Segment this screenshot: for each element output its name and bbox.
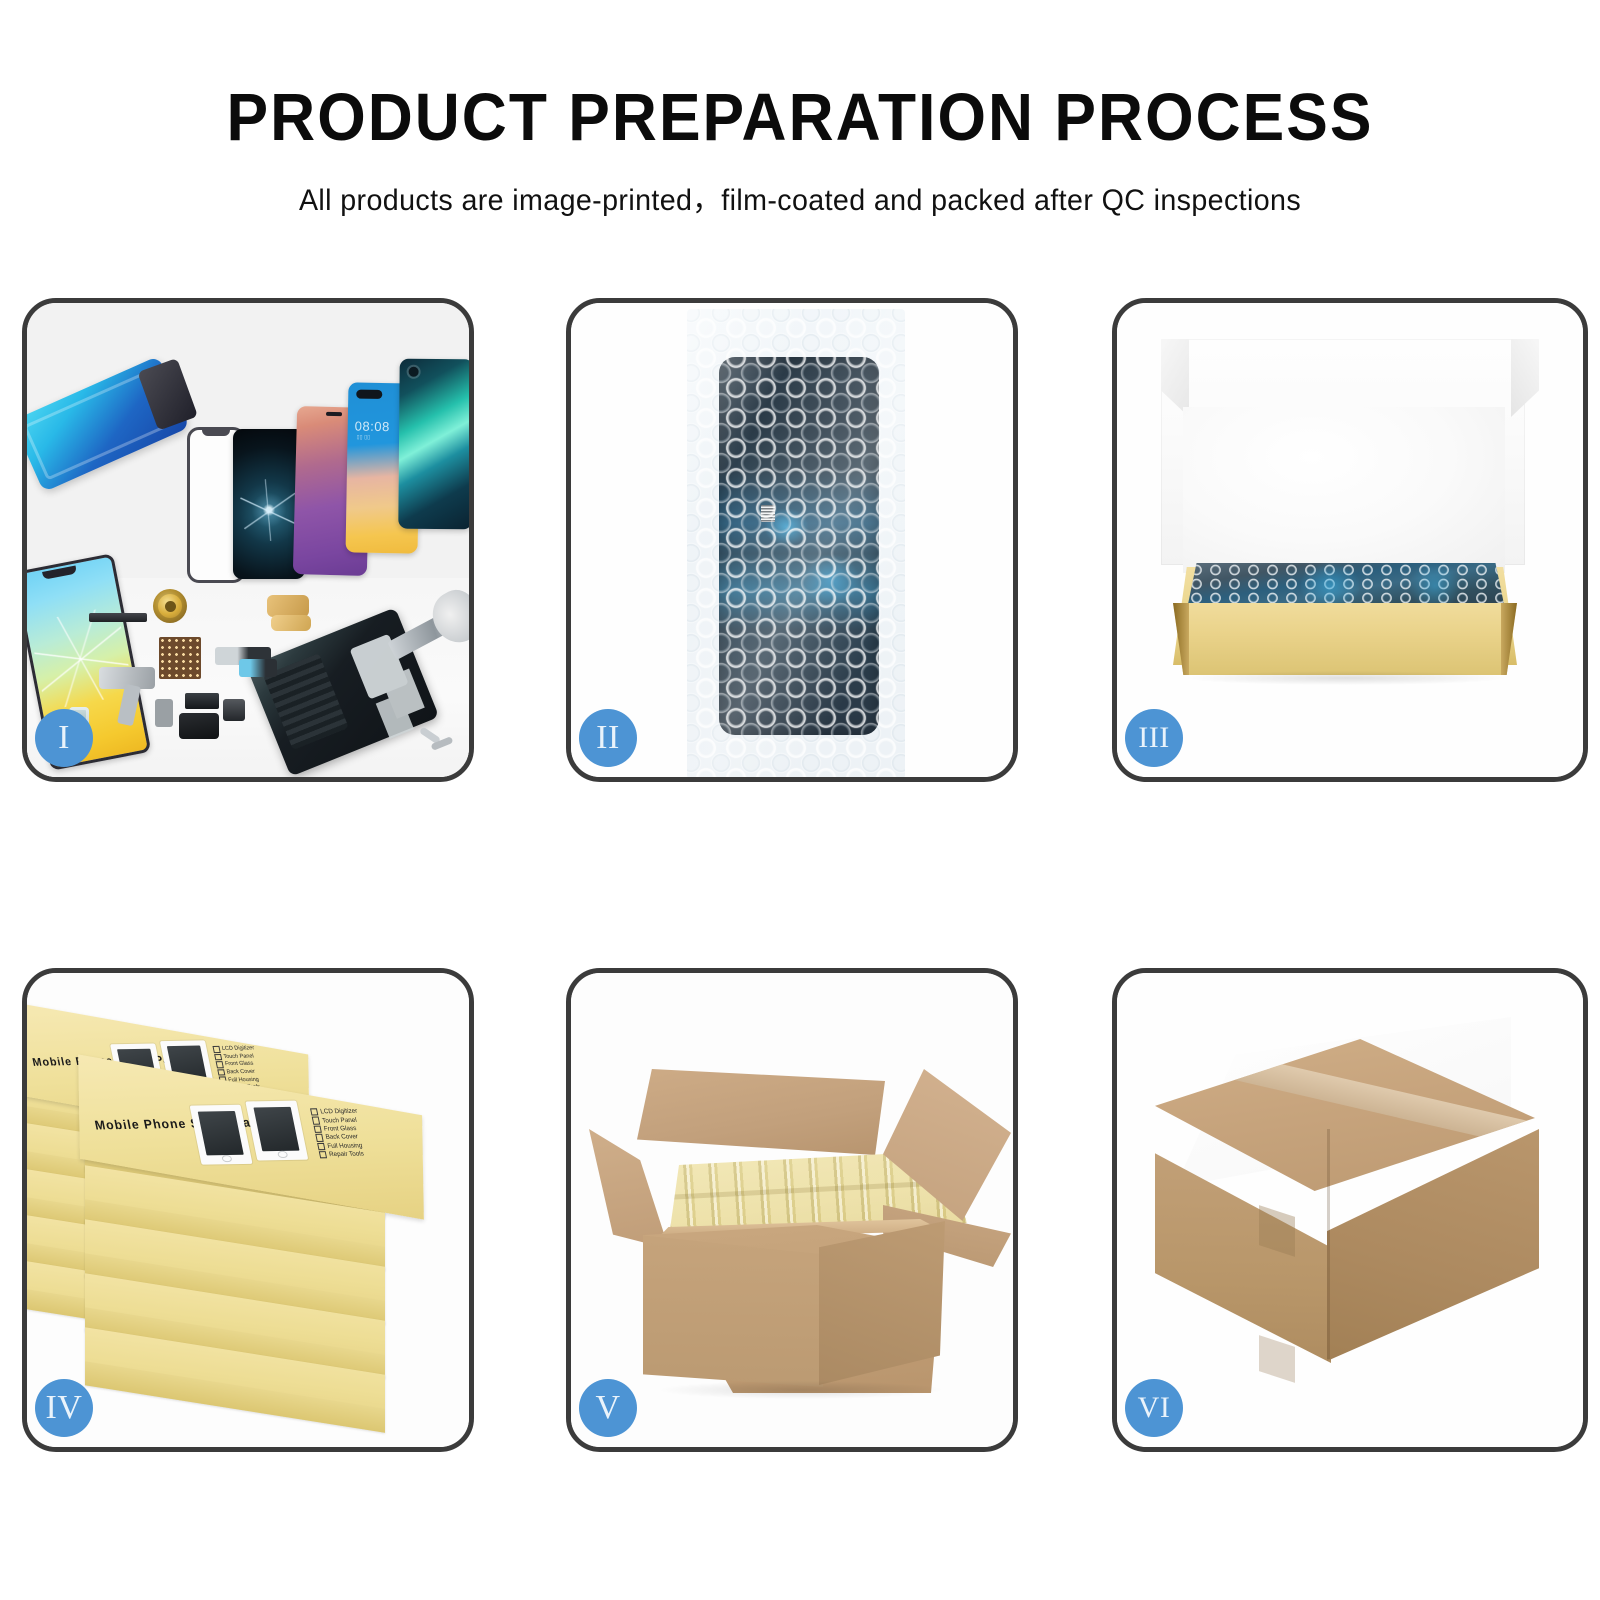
checkbox-icon [315, 1134, 324, 1142]
part-flex-cable-b [271, 615, 311, 631]
checklist-item: Full Housing [317, 1142, 365, 1150]
step-2-image [571, 303, 1013, 777]
step-panel-3: III [1112, 298, 1588, 782]
checklist-item: Back Cover [315, 1133, 363, 1141]
mailer-box-front-wall [1173, 603, 1517, 675]
part-module-a [185, 693, 219, 709]
page-subtitle: All products are image-printed，film-coat… [24, 151, 1576, 219]
checkbox-icon [319, 1151, 328, 1159]
checklist-item: Front Glass [216, 1061, 258, 1068]
step-3-image [1117, 303, 1583, 777]
step-panel-4: Mobile Phone Spare Parts LCD Digitizer T… [22, 968, 474, 1452]
screen-blue-highlight-b [1410, 563, 1461, 609]
carton-shadow [661, 1381, 941, 1399]
step-badge-3: III [1125, 709, 1183, 767]
box-phone-photo-a [190, 1105, 253, 1165]
step-badge-4: IV [35, 1379, 93, 1437]
part-flex-cable-a [267, 595, 309, 617]
mailer-box-shadow [1187, 671, 1505, 685]
screen-blue-highlight-a [1301, 563, 1358, 609]
carton-corner-seam [1327, 1129, 1330, 1359]
step-badge-6: VI [1125, 1379, 1183, 1437]
checklist-item: LCD Digitizer [310, 1108, 358, 1116]
step-5-image [571, 973, 1013, 1447]
checklist-item: Touch Panel [312, 1116, 360, 1124]
step-panel-6: VI [1112, 968, 1588, 1452]
checkbox-icon [312, 1117, 321, 1125]
phone-clock-subtext: ▯▯ ▯▯ [356, 435, 370, 441]
bubble-wrap-bag [687, 309, 905, 777]
phone-teal-wave [398, 359, 469, 530]
carton-front-wall [643, 1229, 823, 1387]
part-module-d [155, 699, 173, 727]
step-panel-5: V [566, 968, 1018, 1452]
phone-clock-time: 08:08 [355, 419, 390, 435]
checklist-item: LCD Digitizer [212, 1045, 254, 1052]
checkbox-icon [214, 1054, 222, 1061]
part-gold-coil [153, 589, 187, 623]
part-flex-cable-f [239, 659, 277, 677]
part-speaker-bar [89, 613, 147, 622]
step-badge-2: II [579, 709, 637, 767]
page-header: PRODUCT PREPARATION PROCESS All products… [0, 0, 1600, 219]
checklist-item: Front Glass [314, 1125, 362, 1133]
bubble-wrapped-screen-in-box [1187, 563, 1505, 609]
checkbox-icon [216, 1061, 224, 1068]
part-ic-chip [159, 637, 201, 679]
box-checklist-lower: LCD Digitizer Touch Panel Front Glass Ba… [310, 1108, 367, 1159]
checkbox-icon [310, 1108, 319, 1116]
checklist-item: Back Cover [217, 1068, 259, 1075]
checkbox-icon [314, 1125, 323, 1133]
step-panel-1: 08:08 ▯▯ ▯▯ I [22, 298, 474, 782]
checkbox-icon [212, 1046, 220, 1053]
checklist-item: Touch Panel [214, 1053, 256, 1060]
part-module-b [223, 699, 245, 721]
page-title: PRODUCT PREPARATION PROCESS [56, 0, 1544, 151]
step-badge-1: I [35, 709, 93, 767]
step-1-image: 08:08 ▯▯ ▯▯ [27, 303, 469, 777]
step-panel-2: II [566, 298, 1018, 782]
checklist-item: Repair Tools [319, 1150, 367, 1158]
step-4-image: Mobile Phone Spare Parts LCD Digitizer T… [27, 973, 469, 1447]
checkbox-icon [317, 1142, 326, 1150]
box-phone-photo-b [245, 1101, 308, 1161]
step-badge-5: V [579, 1379, 637, 1437]
part-module-c [179, 713, 219, 739]
foam-sheet [1183, 407, 1505, 573]
checkbox-icon [217, 1069, 225, 1076]
plastic-sheen [687, 309, 905, 777]
step-6-image [1117, 973, 1583, 1447]
